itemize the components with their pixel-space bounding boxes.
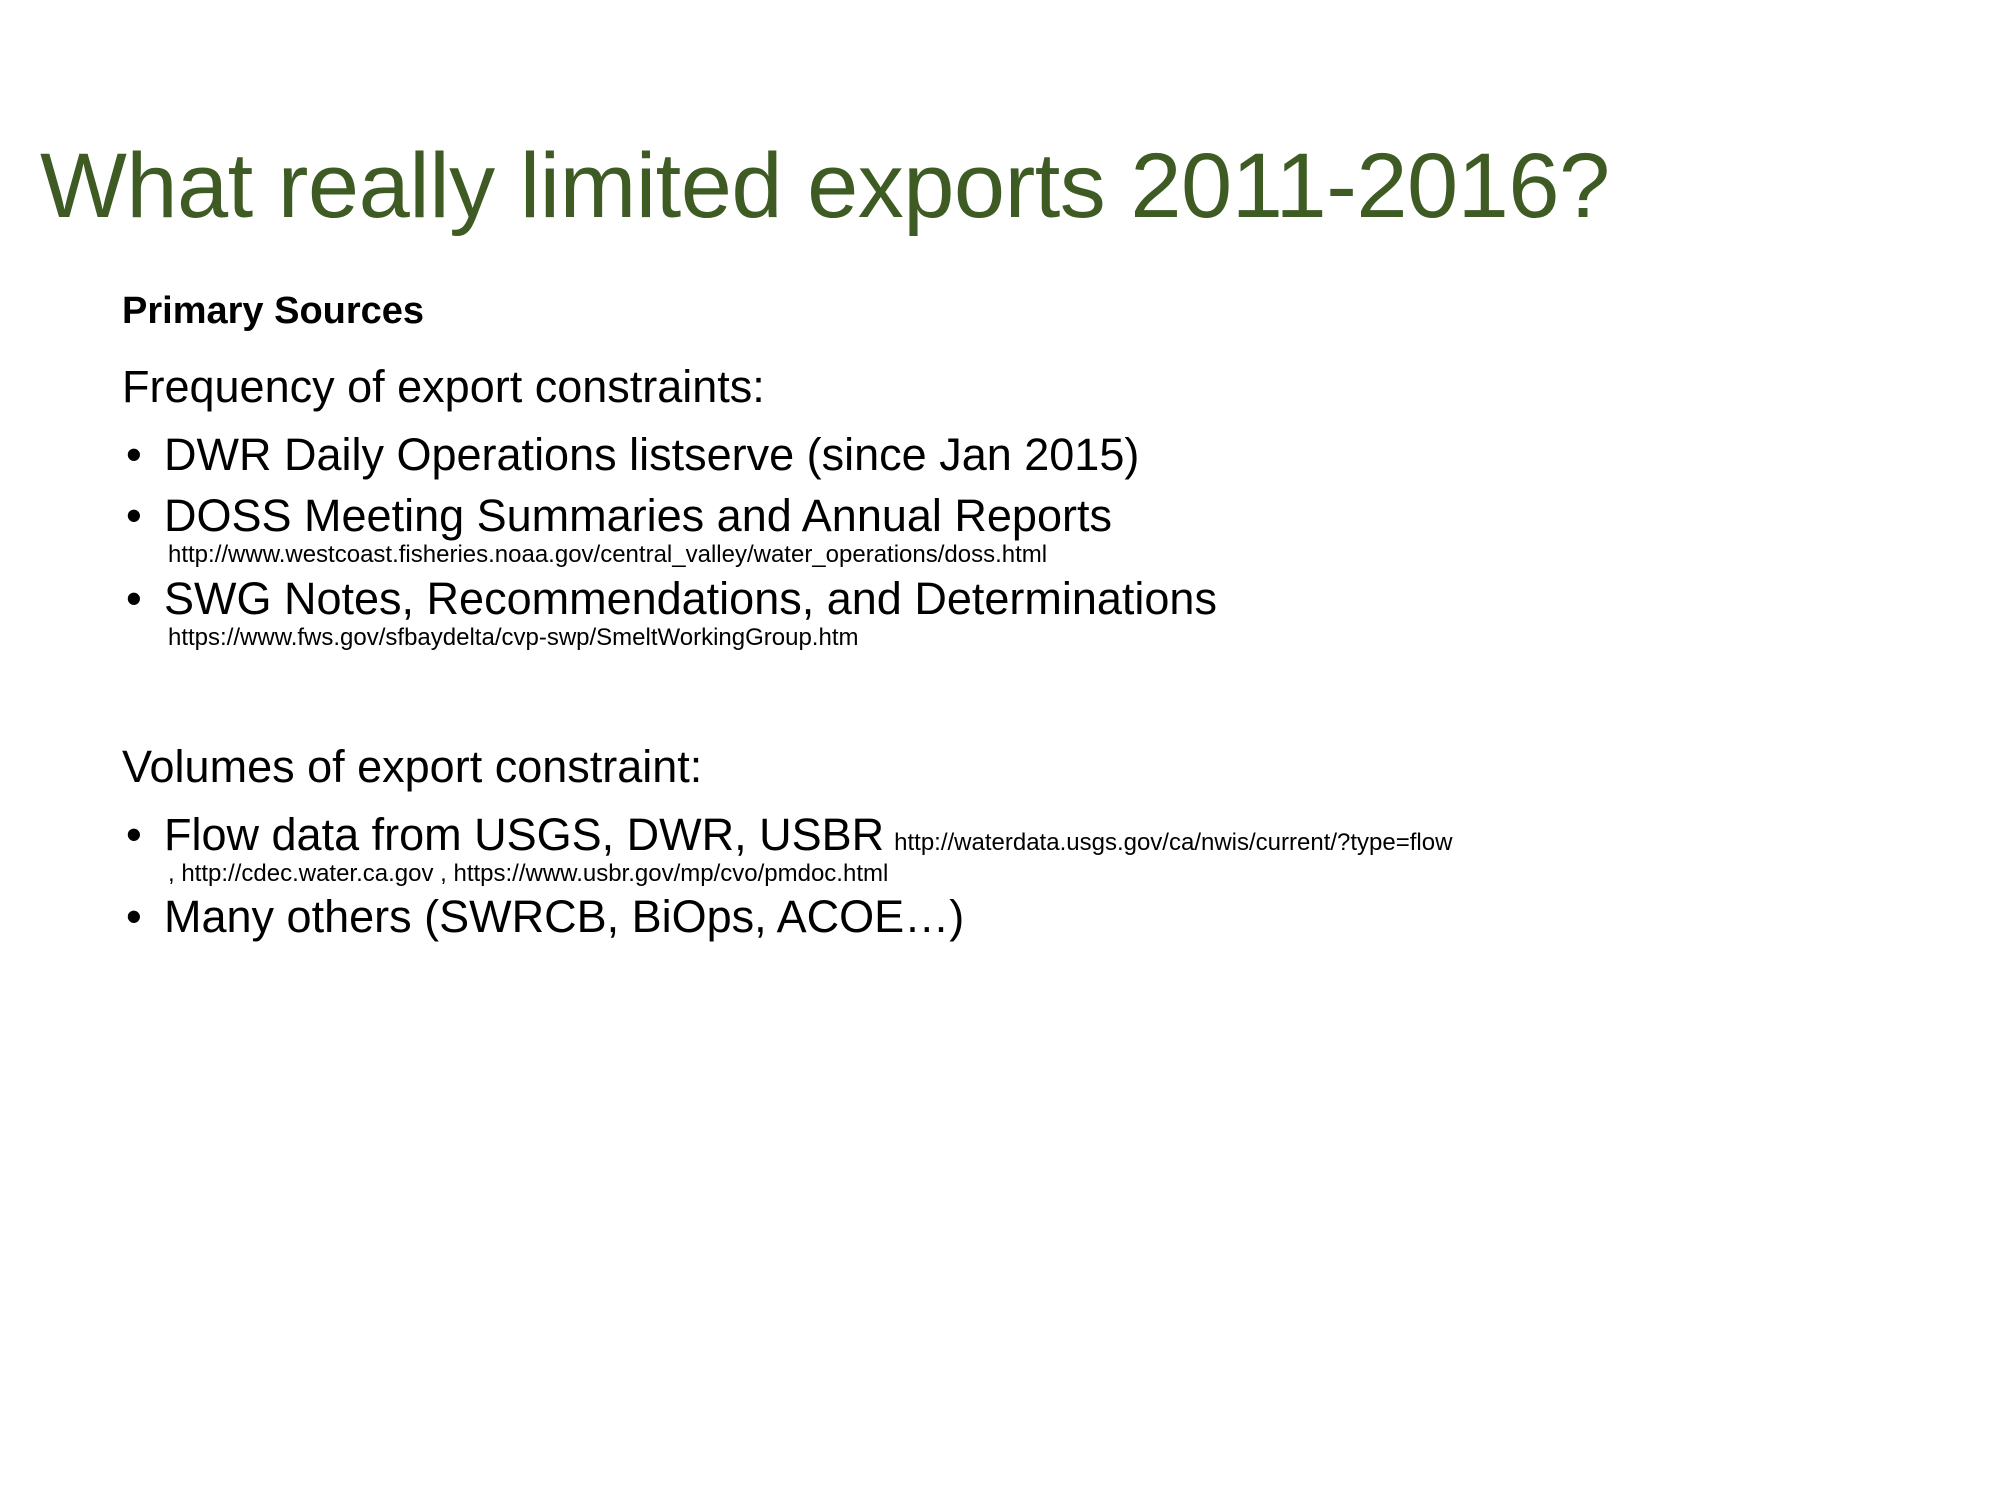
section-volumes: Volumes of export constraint: • Flow dat… <box>122 740 1962 945</box>
bullet-text: SWG Notes, Recommendations, and Determin… <box>164 573 1217 624</box>
bullet-body: Many others (SWRCB, BiOps, ACOE…) <box>164 890 1962 944</box>
bullet-text: Many others (SWRCB, BiOps, ACOE…) <box>164 891 964 942</box>
slide-body: Primary Sources Frequency of export cons… <box>122 288 1962 951</box>
slide-canvas: What really limited exports 2011-2016? P… <box>0 0 2000 1500</box>
section-heading-frequency: Frequency of export constraints: <box>122 360 1962 414</box>
page-title: What really limited exports 2011-2016? <box>40 140 1970 232</box>
bullet-body: Flow data from USGS, DWR, USBRhttp://wat… <box>164 808 1962 888</box>
bullet-body: DOSS Meeting Summaries and Annual Report… <box>164 489 1962 569</box>
bullet-dot-icon: • <box>122 572 164 627</box>
section-heading-volumes: Volumes of export constraint: <box>122 740 1962 794</box>
list-item: • SWG Notes, Recommendations, and Determ… <box>122 572 1962 652</box>
lead-heading-primary-sources: Primary Sources <box>122 288 1962 334</box>
bullet-dot-icon: • <box>122 808 164 863</box>
bullet-dot-icon: • <box>122 428 164 483</box>
bullet-dot-icon: • <box>122 489 164 544</box>
list-item: • Flow data from USGS, DWR, USBRhttp://w… <box>122 808 1962 888</box>
bullet-text: Flow data from USGS, DWR, USBR <box>164 809 884 860</box>
source-url-cdec-usbr[interactable]: , http://cdec.water.ca.gov , https://www… <box>168 860 1962 888</box>
source-url-swg[interactable]: https://www.fws.gov/sfbaydelta/cvp-swp/S… <box>168 624 1962 652</box>
bullet-dot-icon: • <box>122 890 164 945</box>
bullet-body: SWG Notes, Recommendations, and Determin… <box>164 572 1962 652</box>
list-item: • DOSS Meeting Summaries and Annual Repo… <box>122 489 1962 569</box>
bullet-text: DWR Daily Operations listserve (since Ja… <box>164 429 1139 480</box>
bullet-text: DOSS Meeting Summaries and Annual Report… <box>164 490 1112 541</box>
section-frequency: Frequency of export constraints: • DWR D… <box>122 360 1962 652</box>
section-spacer <box>122 654 1962 740</box>
source-url-doss[interactable]: http://www.westcoast.fisheries.noaa.gov/… <box>168 541 1962 569</box>
bullet-body: DWR Daily Operations listserve (since Ja… <box>164 428 1962 482</box>
source-url-usgs[interactable]: http://waterdata.usgs.gov/ca/nwis/curren… <box>894 829 1452 856</box>
list-item: • Many others (SWRCB, BiOps, ACOE…) <box>122 890 1962 945</box>
list-item: • DWR Daily Operations listserve (since … <box>122 428 1962 483</box>
